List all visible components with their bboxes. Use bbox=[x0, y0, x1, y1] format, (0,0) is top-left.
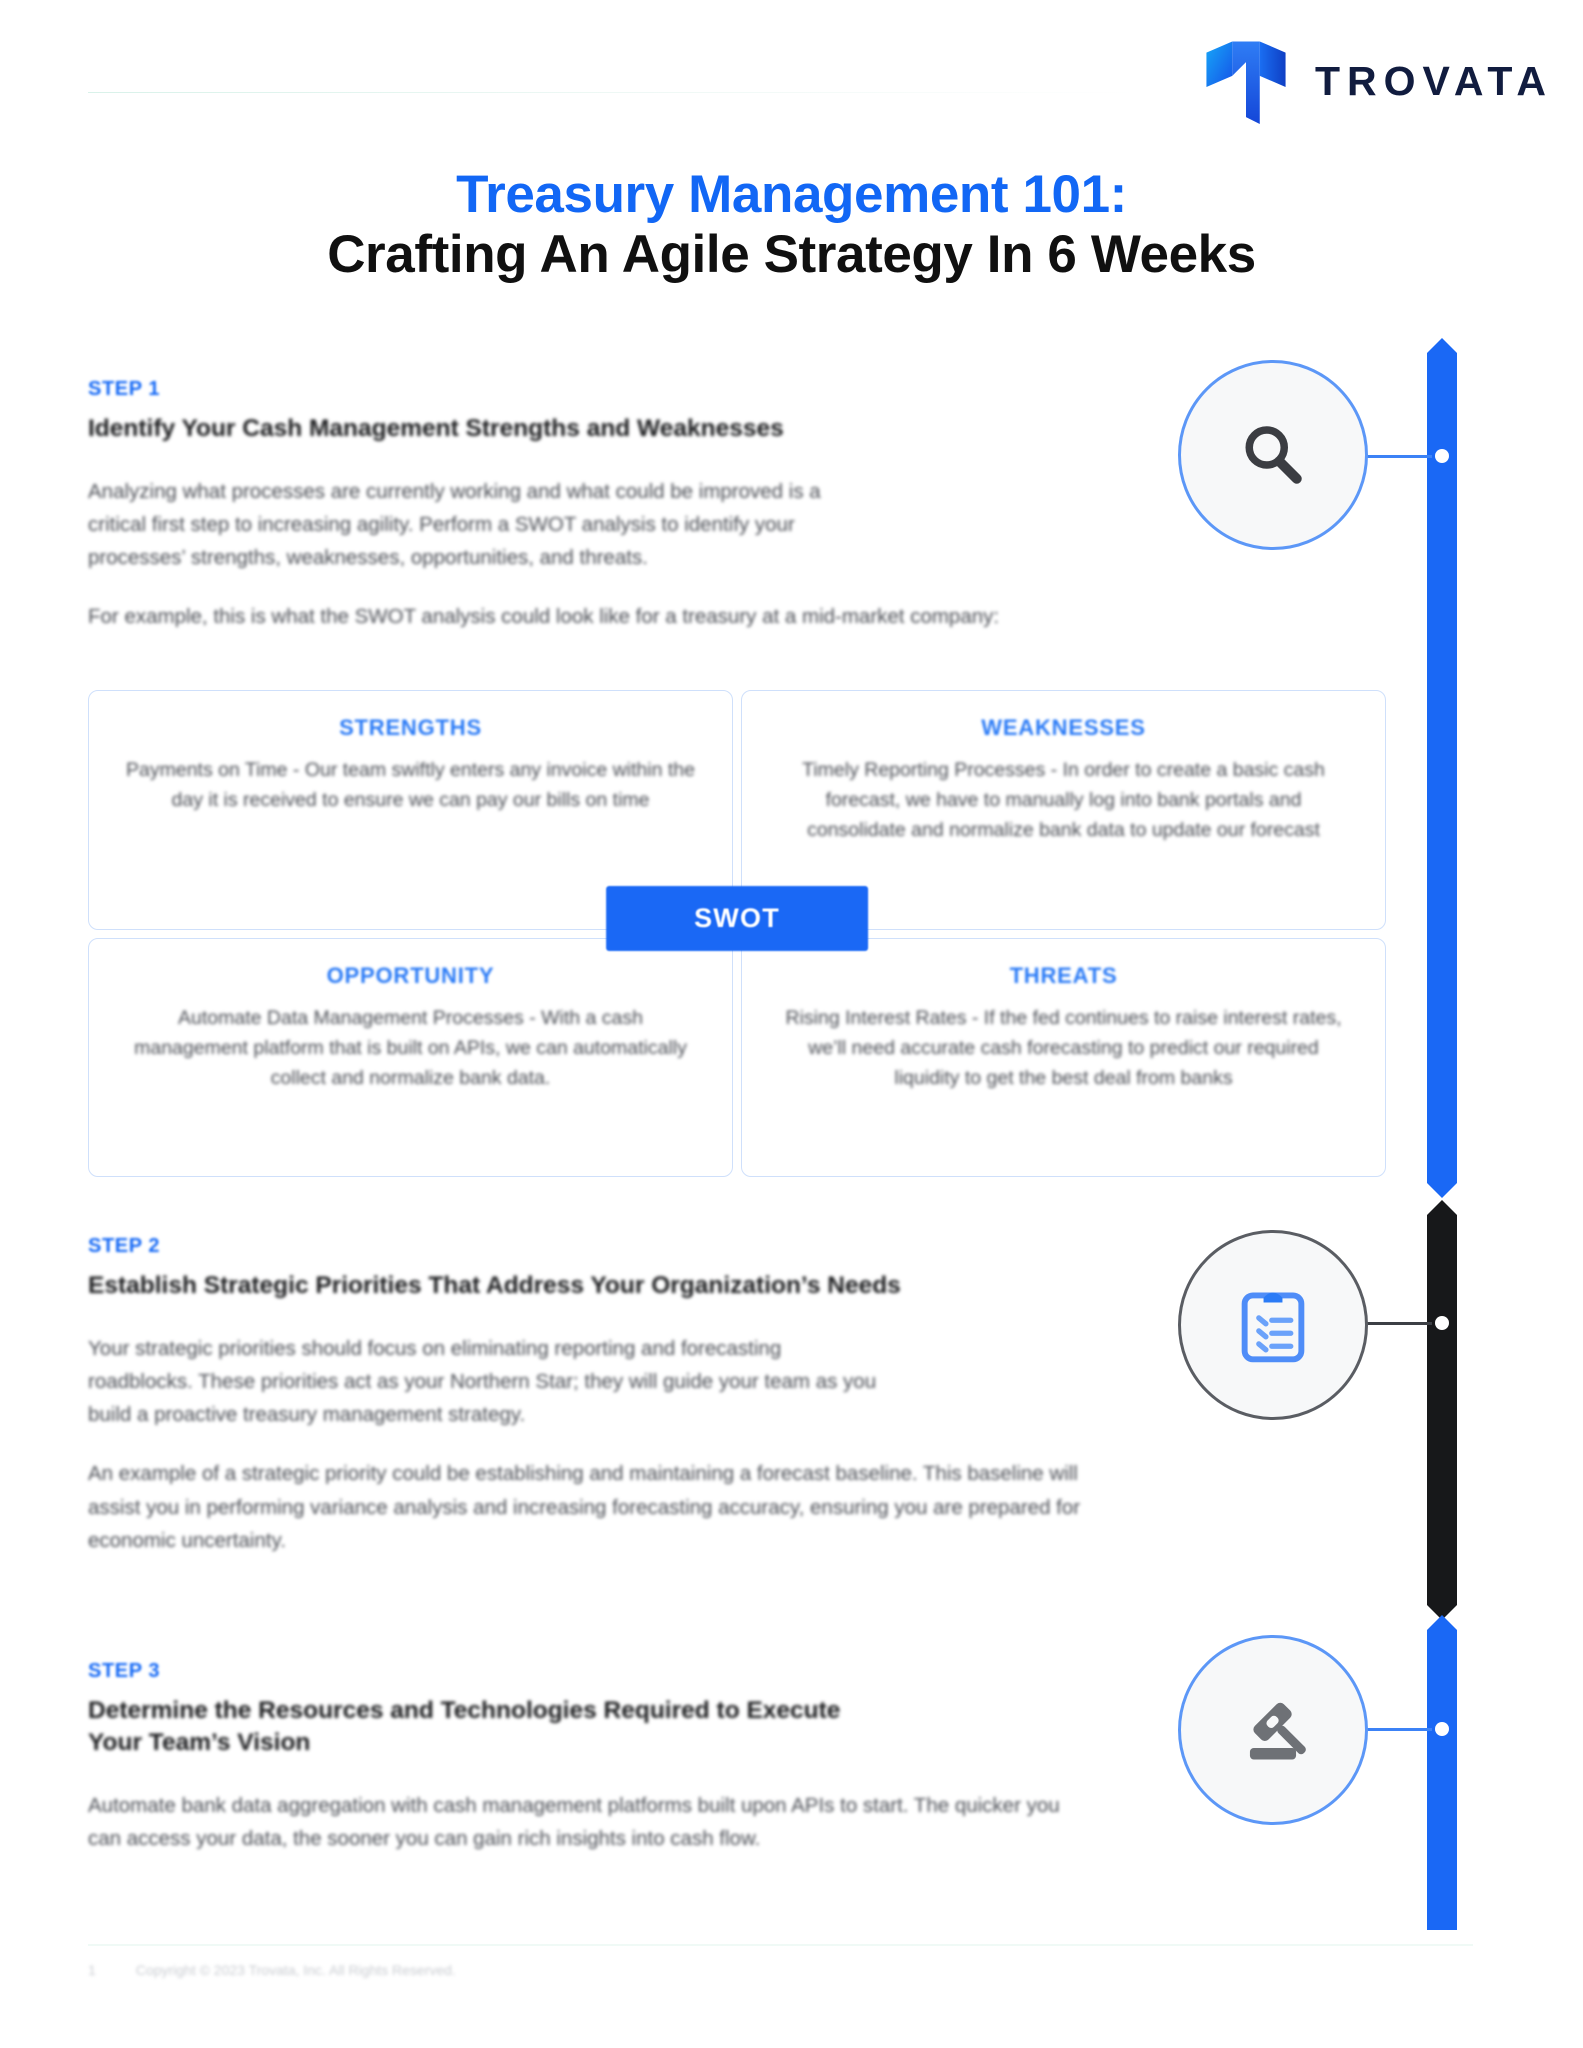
timeline-arrow-up bbox=[1427, 1615, 1457, 1630]
swot-body-strengths: Payments on Time - Our team swiftly ente… bbox=[123, 755, 698, 815]
header-divider bbox=[88, 92, 1140, 93]
clipboard-checklist-icon bbox=[1236, 1286, 1310, 1364]
swot-title-weaknesses: WEAKNESSES bbox=[981, 715, 1145, 741]
step-1-kicker: STEP 1 bbox=[88, 378, 1128, 401]
timeline-node-2 bbox=[1435, 1316, 1449, 1330]
timeline-segment-2 bbox=[1427, 1200, 1457, 1620]
step-1-heading: Identify Your Cash Management Strengths … bbox=[88, 413, 1128, 445]
swot-title-opportunity: OPPORTUNITY bbox=[327, 963, 495, 989]
step-2-block: STEP 2 Establish Strategic Priorities Th… bbox=[88, 1235, 1128, 1557]
step-2-icon-badge bbox=[1178, 1230, 1368, 1420]
timeline-bar bbox=[1427, 1630, 1457, 1930]
page-number: 1 bbox=[88, 1962, 96, 1978]
timeline-segment-3 bbox=[1427, 1615, 1457, 1930]
gavel-icon bbox=[1232, 1689, 1314, 1771]
timeline-arrow-down bbox=[1427, 1183, 1457, 1198]
swot-title-strengths: STRENGTHS bbox=[339, 715, 482, 741]
step-2-heading: Establish Strategic Priorities That Addr… bbox=[88, 1270, 1128, 1302]
step-1-paragraph-1: Analyzing what processes are currently w… bbox=[88, 475, 878, 575]
timeline-segment-1 bbox=[1427, 338, 1457, 1198]
title-line-2: Crafting An Agile Strategy In 6 Weeks bbox=[0, 224, 1583, 287]
step-3-block: STEP 3 Determine the Resources and Techn… bbox=[88, 1660, 1128, 1855]
step-3-paragraph-1: Automate bank data aggregation with cash… bbox=[88, 1789, 1088, 1855]
swot-body-weaknesses: Timely Reporting Processes - In order to… bbox=[776, 755, 1351, 846]
brand-logo: TROVATA bbox=[1203, 38, 1553, 124]
step-2-kicker: STEP 2 bbox=[88, 1235, 1128, 1258]
page-title: Treasury Management 101: Crafting An Agi… bbox=[0, 165, 1583, 287]
step-2-paragraph-1: Your strategic priorities should focus o… bbox=[88, 1332, 878, 1432]
step-1-paragraph-2: For example, this is what the SWOT analy… bbox=[88, 600, 1088, 633]
step-3-icon-badge bbox=[1178, 1635, 1368, 1825]
swot-body-opportunity: Automate Data Management Processes - Wit… bbox=[123, 1003, 698, 1094]
title-line-1: Treasury Management 101: bbox=[0, 165, 1583, 224]
timeline-arrow-up bbox=[1427, 338, 1457, 353]
swot-title-threats: THREATS bbox=[1010, 963, 1118, 989]
swot-center-badge: SWOT bbox=[606, 886, 868, 951]
brand-wordmark: TROVATA bbox=[1315, 61, 1553, 102]
timeline-bar bbox=[1427, 1215, 1457, 1605]
timeline-node-3 bbox=[1435, 1722, 1449, 1736]
document-page: TROVATA Treasury Management 101: Craftin… bbox=[0, 0, 1583, 2048]
footer-divider bbox=[88, 1944, 1473, 1946]
swot-matrix: STRENGTHS Payments on Time - Our team sw… bbox=[88, 690, 1386, 1177]
timeline-bar bbox=[1427, 353, 1457, 1183]
swot-quadrant-opportunity: OPPORTUNITY Automate Data Management Pro… bbox=[88, 938, 733, 1178]
step-2-paragraph-2: An example of a strategic priority could… bbox=[88, 1457, 1088, 1557]
magnifier-icon bbox=[1233, 415, 1313, 495]
swot-body-threats: Rising Interest Rates - If the fed conti… bbox=[776, 1003, 1351, 1094]
footer: 1 Copyright © 2023 Trovata, Inc. All Rig… bbox=[88, 1962, 456, 1978]
trovata-t-logo-icon bbox=[1203, 38, 1289, 124]
timeline-node-1 bbox=[1435, 449, 1449, 463]
step-3-kicker: STEP 3 bbox=[88, 1660, 1128, 1683]
step-1-icon-badge bbox=[1178, 360, 1368, 550]
step-1-block: STEP 1 Identify Your Cash Management Str… bbox=[88, 378, 1128, 634]
step-3-heading: Determine the Resources and Technologies… bbox=[88, 1695, 878, 1759]
swot-quadrant-threats: THREATS Rising Interest Rates - If the f… bbox=[741, 938, 1386, 1178]
copyright-text: Copyright © 2023 Trovata, Inc. All Right… bbox=[136, 1962, 456, 1978]
timeline-arrow-up bbox=[1427, 1200, 1457, 1215]
